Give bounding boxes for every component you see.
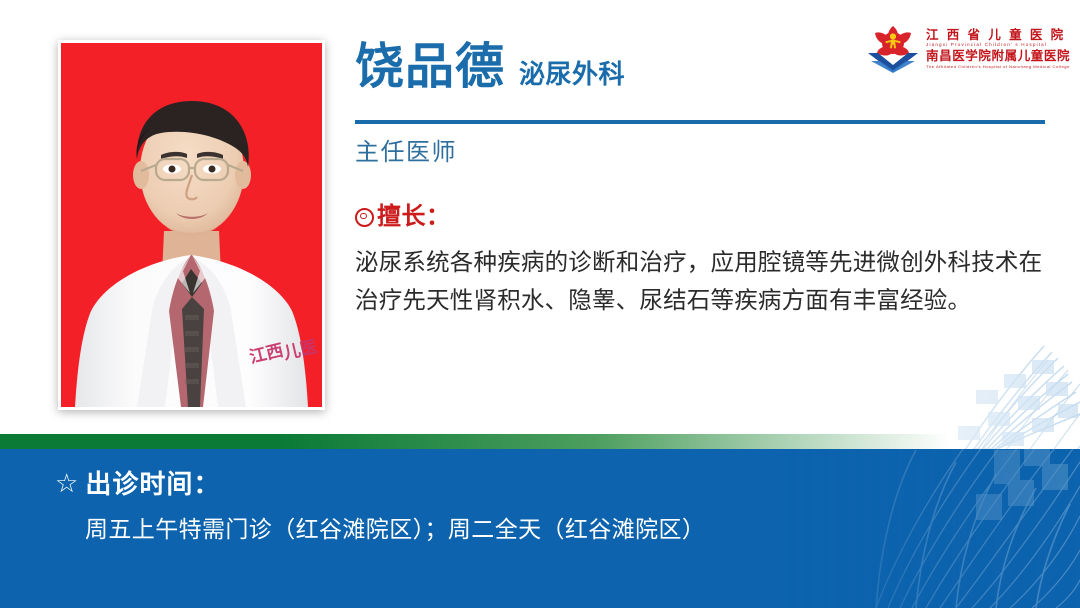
schedule-text: 周五上午特需门诊（红谷滩院区）；周二全天（红谷滩院区）	[85, 515, 1040, 545]
schedule-label: 出诊时间：	[85, 471, 220, 497]
doctor-name: 饶品德	[355, 42, 505, 91]
expertise-heading: 擅长：	[355, 205, 1047, 229]
hospital-name-cn: 江 西 省 儿 童 医 院	[926, 28, 1070, 42]
expertise-section: 擅长： 泌尿系统各种疾病的诊断和治疗，应用腔镜等先进微创外科技术在治疗先天性肾积…	[355, 205, 1047, 319]
doctor-photo: 江西 儿医	[58, 40, 325, 410]
schedule-heading: ☆ 出诊时间：	[55, 471, 1040, 497]
green-divider-bar	[0, 434, 1080, 449]
schedule-content: ☆ 出诊时间： 周五上午特需门诊（红谷滩院区）；周二全天（红谷滩院区）	[55, 471, 1040, 545]
star-outline-icon: ☆	[55, 471, 79, 497]
doctor-photo-inner: 江西 儿医	[61, 43, 322, 407]
expertise-label: 擅长：	[377, 205, 451, 229]
header-divider	[355, 120, 1045, 124]
doctor-title: 主任医师	[355, 141, 1047, 165]
doctor-profile-poster: 江 西 省 儿 童 医 院 Jiangxi Provincial Childre…	[0, 0, 1080, 608]
doctor-department: 泌尿外科	[519, 62, 625, 88]
schedule-banner: ☆ 出诊时间： 周五上午特需门诊（红谷滩院区）；周二全天（红谷滩院区）	[0, 449, 1080, 608]
expertise-text: 泌尿系统各种疾病的诊断和治疗，应用腔镜等先进微创外科技术在治疗先天性肾积水、隐睾…	[355, 243, 1045, 319]
double-circle-icon	[355, 208, 374, 227]
doctor-info-panel: 饶品德 泌尿外科 主任医师 擅长： 泌尿系统各种疾病的诊断和治疗，应用腔镜等先进…	[355, 42, 1047, 319]
doctor-name-row: 饶品德 泌尿外科	[355, 42, 1047, 110]
